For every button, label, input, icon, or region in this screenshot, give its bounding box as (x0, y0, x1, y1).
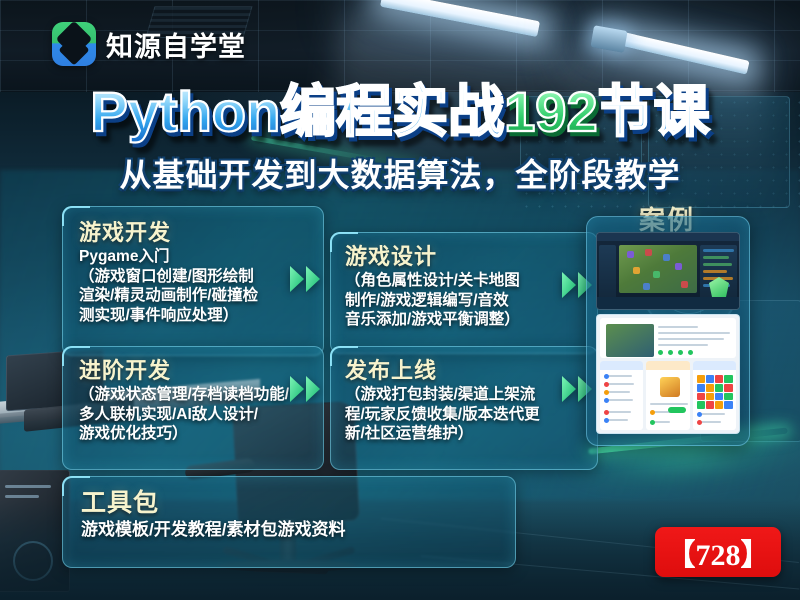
card-heading: 游戏设计 (345, 239, 585, 271)
promo-poster: 知源自学堂 Python编程实战192节课 从基础开发到大数据算法，全阶段教学 … (0, 0, 800, 600)
card-heading: 游戏开发 (79, 215, 311, 247)
card-body: （游戏状态管理/存档读档功能/ 多人联机实现/AI敌人设计/ 游戏优化技巧） (79, 385, 311, 444)
card-body: （角色属性设计/关卡地图 制作/游戏逻辑编写/音效 音乐添加/游戏平衡调整） (345, 271, 585, 330)
card-corner-accent (330, 346, 358, 366)
hero-title: Python编程实战192节课 (0, 84, 800, 140)
title-part-1: Python编程实战 (90, 80, 504, 143)
game-client-screenshot (596, 232, 740, 310)
badge-text: 【728】 (666, 530, 771, 574)
double-chevron-right-icon (288, 372, 328, 406)
card-toolkit[interactable]: 工具包 游戏模板/开发教程/素材包游戏资料 (62, 476, 516, 568)
hero-subtitle: 从基础开发到大数据算法，全阶段教学 (0, 150, 800, 196)
card-advanced-development[interactable]: 进阶开发 （游戏状态管理/存档读档功能/ 多人联机实现/AI敌人设计/ 游戏优化… (62, 346, 324, 470)
dashboard-screenshot (596, 314, 740, 434)
brand-name: 知源自学堂 (106, 25, 246, 64)
title-part-3: 节课 (598, 80, 710, 143)
dashboard-card (693, 361, 736, 430)
tower-led (5, 495, 39, 498)
card-heading: 进阶开发 (79, 353, 311, 385)
toolkit-body: 游戏模板/开发教程/素材包游戏资料 (81, 519, 501, 540)
brand-logo: 知源自学堂 (52, 22, 246, 66)
card-corner-accent (330, 232, 358, 252)
card-game-design[interactable]: 游戏设计 （角色属性设计/关卡地图 制作/游戏逻辑编写/音效 音乐添加/游戏平衡… (330, 232, 598, 354)
card-game-development[interactable]: 游戏开发 Pygame入门 （游戏窗口创建/图形绘制 渲染/精灵动画制作/碰撞检… (62, 206, 324, 356)
double-chevron-right-icon (288, 262, 328, 296)
card-body: Pygame入门 （游戏窗口创建/图形绘制 渲染/精灵动画制作/碰撞检 测实现/… (79, 247, 311, 325)
title-part-count: 192 (504, 80, 597, 143)
card-corner-accent (62, 206, 90, 226)
card-heading: 发布上线 (345, 353, 585, 385)
price-badge[interactable]: 【728】 (655, 527, 781, 577)
card-corner-accent (62, 346, 90, 366)
tower-led (5, 485, 51, 488)
toolkit-heading: 工具包 (81, 483, 501, 519)
card-publish-launch[interactable]: 发布上线 （游戏打包封装/渠道上架流 程/玩家反馈收集/版本迭代更 新/社区运营… (330, 346, 598, 470)
dashboard-card (646, 361, 689, 430)
card-body: （游戏打包封装/渠道上架流 程/玩家反馈收集/版本迭代更 新/社区运营维护） (345, 385, 585, 444)
mountain-logo-icon (52, 22, 96, 66)
card-corner-accent (62, 476, 90, 496)
dashboard-card (600, 361, 643, 430)
